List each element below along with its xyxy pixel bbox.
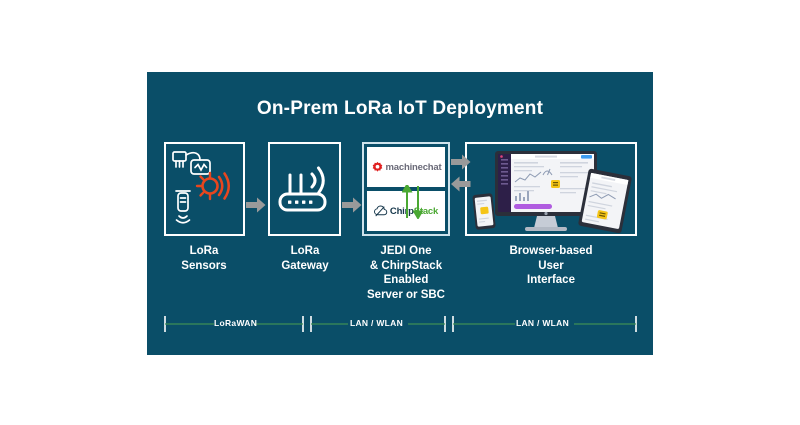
span-lan-wlan-2-label: LAN / WLAN [516,318,569,328]
caption-line: LoRa [259,244,351,259]
caption-ui: Browser-based User Interface [465,244,637,288]
arrow-gateway-to-server [342,197,362,213]
motion-sensor-icon [176,191,190,223]
caption-gateway: LoRa Gateway [259,244,351,273]
machinechat-card[interactable]: machinechat [367,147,445,187]
sun-radio-icon [197,173,229,199]
span-lorawan-label: LoRaWAN [214,318,257,328]
caption-line: Sensors [154,259,254,274]
machinechat-label: machinechat [386,162,442,173]
smartphone-icon [472,193,496,230]
span-lan-wlan-2: LAN / WLAN [452,315,637,333]
caption-server: JEDI One & ChirpStack Enabled Server or … [354,244,458,302]
caption-line: Browser-based [465,244,637,259]
pressure-gauge-icon [191,160,210,174]
caption-line: LoRa [154,244,254,259]
arrow-ui-to-server [451,176,471,192]
chirpstack-cloud-logo [374,205,388,217]
browser-devices-group [465,142,637,236]
arrow-server-to-ui [451,154,471,170]
caption-line: Gateway [259,259,351,274]
span-lorawan: LoRaWAN [164,315,304,333]
span-lan-wlan-1: LAN / WLAN [310,315,446,333]
caption-line: Enabled [354,273,458,288]
arrow-sensors-to-gateway [246,197,266,213]
sensor-icons-group [169,146,241,232]
diagram-canvas: On-Prem LoRa IoT Deployment [0,0,800,425]
caption-line: Interface [465,273,637,288]
caption-line: & ChirpStack [354,259,458,274]
page-title: On-Prem LoRa IoT Deployment [147,98,653,120]
caption-line: User [465,259,637,274]
caption-line: Server or SBC [354,288,458,303]
wifi-router-icon [272,148,336,228]
caption-sensors: LoRa Sensors [154,244,254,273]
green-double-arrow-icon [402,185,424,219]
humidity-sensor-icon [173,152,186,161]
caption-line: JEDI One [354,244,458,259]
diagram-panel: On-Prem LoRa IoT Deployment [147,72,653,355]
machinechat-gear-logo [371,161,384,174]
span-lan-wlan-1-label: LAN / WLAN [350,318,403,328]
